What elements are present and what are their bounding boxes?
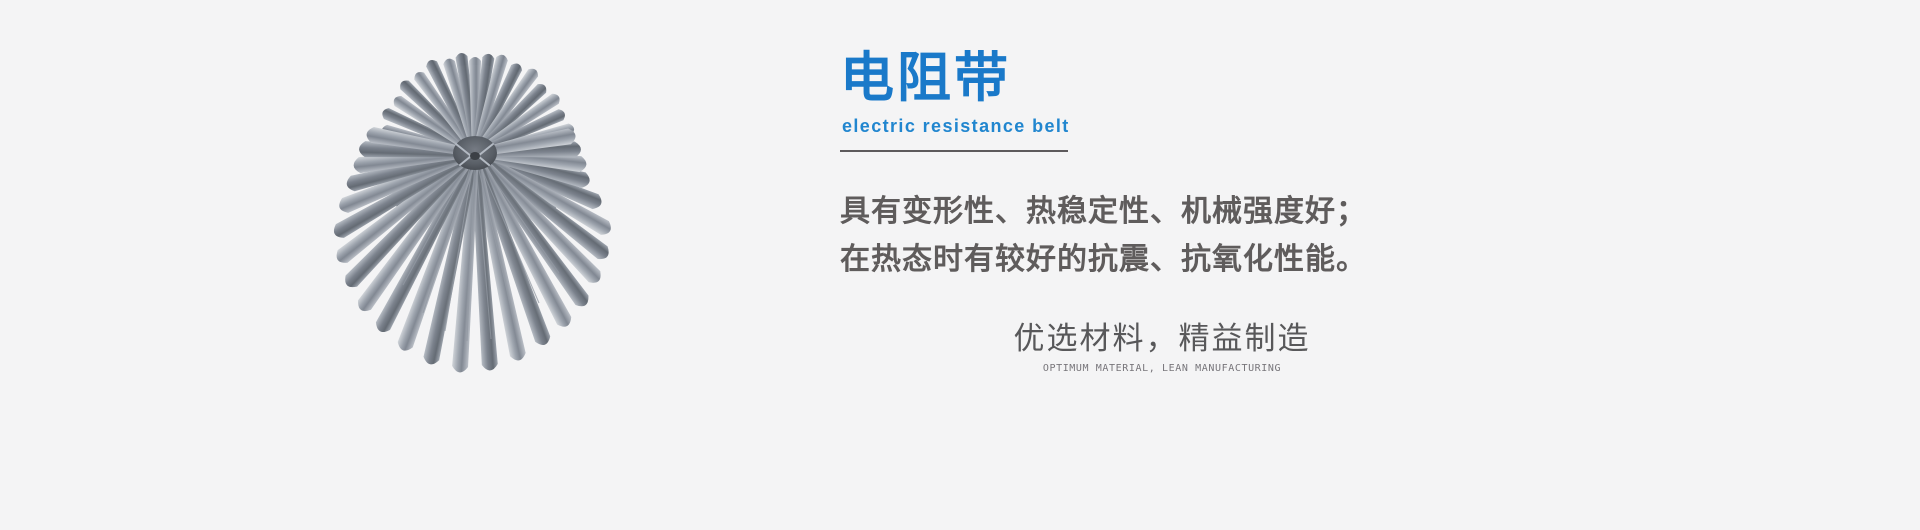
product-description: 具有变形性、热稳定性、机械强度好； 在热态时有较好的抗震、抗氧化性能。 bbox=[840, 188, 1540, 284]
product-image bbox=[300, 35, 650, 435]
page-subtitle: electric resistance belt bbox=[842, 115, 1070, 137]
page-title: 电阻带 bbox=[840, 48, 1011, 108]
product-banner: 电阻带 electric resistance belt 具有变形性、热稳定性、… bbox=[0, 0, 1920, 530]
slogan-block: 优选材料，精益制造 OPTIMUM MATERIAL, LEAN MANUFAC… bbox=[952, 318, 1372, 376]
title-divider bbox=[840, 150, 1068, 152]
description-line-2: 在热态时有较好的抗震、抗氧化性能。 bbox=[840, 236, 1540, 284]
description-line-1: 具有变形性、热稳定性、机械强度好； bbox=[840, 188, 1540, 236]
slogan-cn: 优选材料，精益制造 bbox=[952, 318, 1372, 360]
copy-block: 电阻带 electric resistance belt 具有变形性、热稳定性、… bbox=[840, 0, 1740, 530]
resistance-belt-illustration bbox=[300, 35, 650, 435]
slogan-en: OPTIMUM MATERIAL, LEAN MANUFACTURING bbox=[952, 362, 1372, 376]
